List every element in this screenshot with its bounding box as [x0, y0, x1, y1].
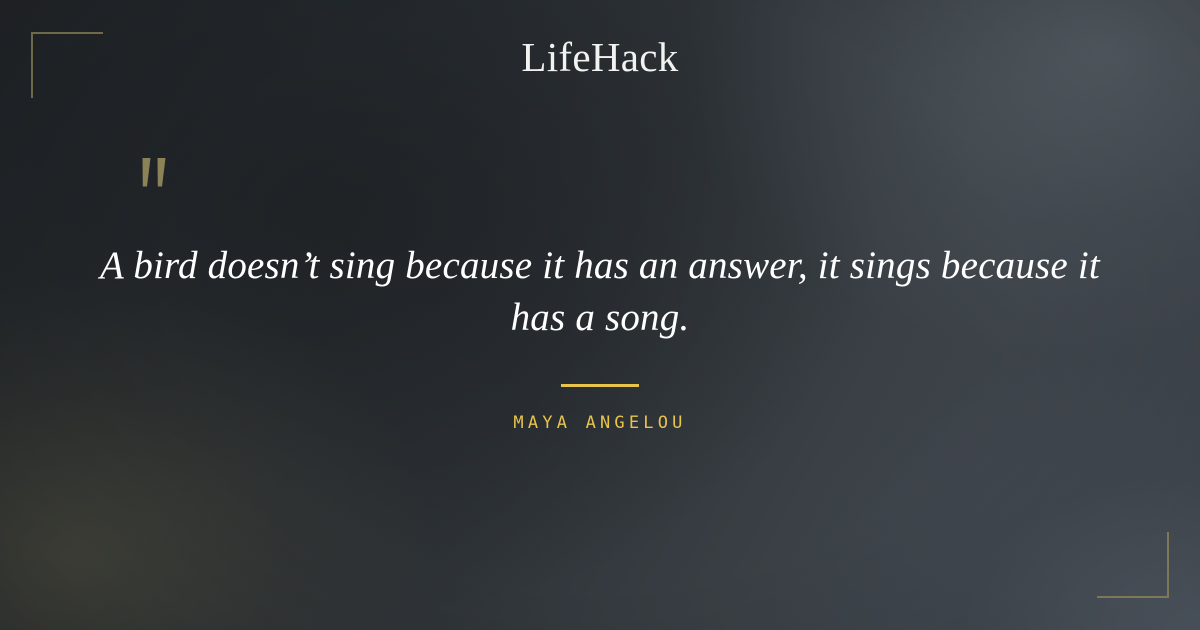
quote-text: A bird doesn’t sing because it has an an… — [85, 240, 1115, 344]
quote-card-canvas: LifeHack A bird doesn’t sing because it … — [0, 0, 1200, 630]
lifehack-logo: LifeHack — [0, 37, 1200, 78]
gold-divider — [561, 384, 639, 387]
quote-author: MAYA ANGELOU — [0, 413, 1200, 433]
corner-bracket-bottom-right-icon — [1097, 532, 1169, 598]
double-quote-icon — [128, 152, 188, 212]
